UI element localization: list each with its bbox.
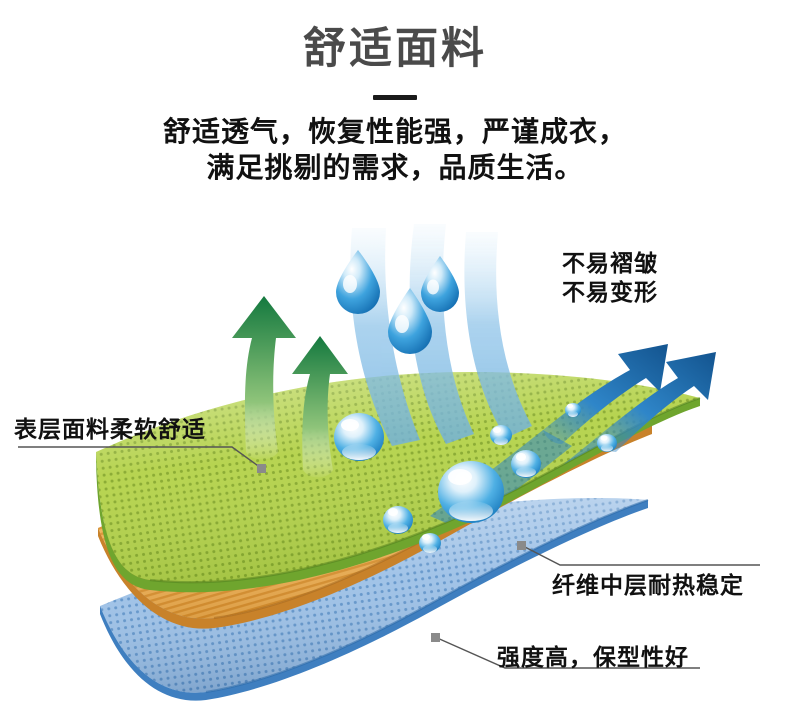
marker-bottom-layer bbox=[431, 633, 440, 642]
water-bead bbox=[490, 425, 512, 445]
callout-wrinkle-label: 不易褶皱 bbox=[562, 249, 658, 278]
callout-top-layer-label: 表层面料柔软舒适 bbox=[14, 415, 206, 444]
water-bead bbox=[419, 533, 441, 553]
water-bead bbox=[597, 434, 617, 452]
marker-middle-layer bbox=[517, 541, 526, 550]
water-bead bbox=[383, 506, 413, 534]
poster-root: 舒适面料 舒适透气，恢复性能强，严谨成衣， 满足挑剔的需求，品质生活。 bbox=[0, 0, 790, 726]
water-streams bbox=[350, 224, 532, 446]
water-bead bbox=[438, 461, 504, 523]
water-bead bbox=[334, 413, 384, 461]
callout-wrinkle-deform-label: 不易褶皱 不易变形 bbox=[562, 249, 658, 307]
fabric-layers-illustration bbox=[0, 0, 790, 726]
marker-top-layer bbox=[257, 464, 266, 473]
water-bead bbox=[511, 450, 541, 478]
callout-middle-layer-label: 纤维中层耐热稳定 bbox=[552, 571, 744, 600]
callout-deform-label: 不易变形 bbox=[562, 278, 658, 307]
callout-bottom-layer-label: 强度高，保型性好 bbox=[497, 643, 689, 672]
water-bead bbox=[565, 403, 581, 417]
